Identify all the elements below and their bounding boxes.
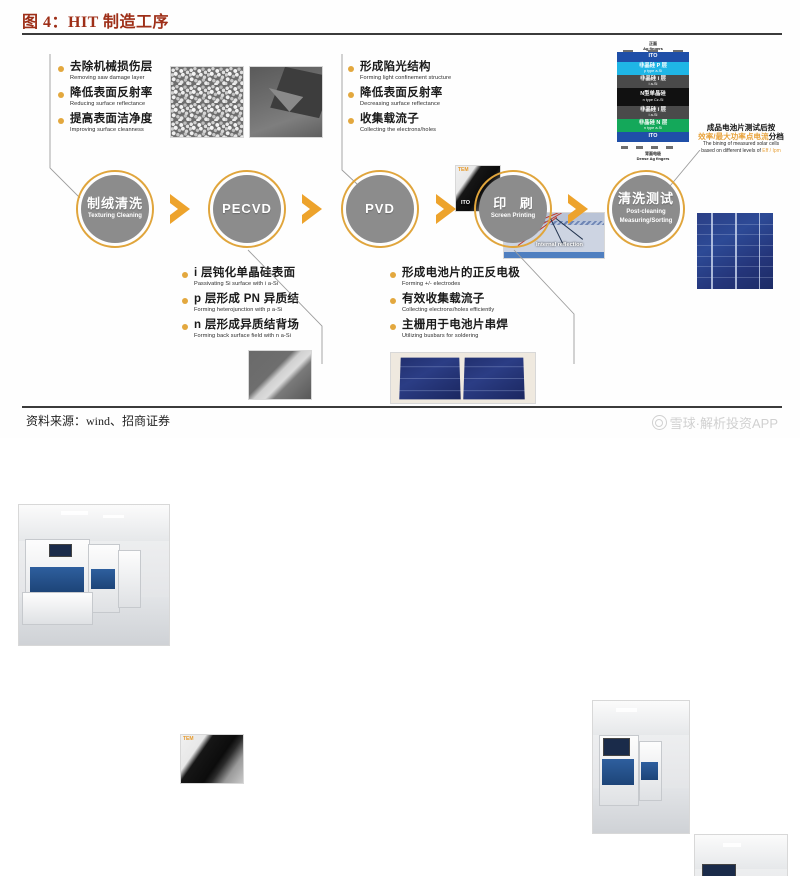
node-label-cn: 印 刷 bbox=[488, 197, 538, 211]
bullet-dot-icon bbox=[390, 298, 396, 304]
rear-ag-finger bbox=[636, 146, 643, 149]
tem-tag-label: TEM bbox=[183, 736, 194, 742]
process-node-texturing[interactable]: 制绒清洗 Texturing Cleaning bbox=[76, 170, 154, 248]
bullet-dot-icon bbox=[390, 324, 396, 330]
stack-layer-name: ITO bbox=[649, 134, 658, 139]
caption-line-2-tail: 分档 bbox=[769, 132, 784, 141]
sem-pyramid-texture-image bbox=[249, 66, 323, 138]
testing-equipment-photo-right bbox=[694, 834, 788, 876]
process-node-pvd[interactable]: PVD bbox=[341, 170, 419, 248]
leader-line-printing bbox=[470, 248, 580, 366]
node-label-en: Texturing Cleaning bbox=[88, 213, 142, 221]
process-node-pecvd[interactable]: PECVD bbox=[208, 170, 286, 248]
process-node-testing[interactable]: 清洗测试 Post-cleaning Measuring/Sorting bbox=[607, 170, 685, 248]
figure-root: 图 4：HIT 制造工序 去除机械损伤层 Removing saw damage… bbox=[0, 0, 800, 438]
stack-layer: ITO bbox=[617, 52, 689, 62]
caption-highlight-eff: Eff / Ipm bbox=[762, 148, 781, 154]
stack-layer: 非晶硅 P 层 p type a-Si bbox=[617, 62, 689, 75]
tem-zoom-image bbox=[248, 350, 312, 400]
photo-ceiling bbox=[19, 505, 169, 541]
watermark: 雪球·解析投资APP bbox=[652, 413, 778, 432]
figure-title-bar: 图 4：HIT 制造工序 bbox=[22, 8, 782, 38]
stack-layer: 非晶硅 N 层 n type a-Si bbox=[617, 119, 689, 132]
stack-layer-name: ITO bbox=[649, 54, 658, 59]
node-label-cn: PVD bbox=[365, 202, 395, 216]
caption-line-2: 效率/最大功率点电流分档 bbox=[686, 133, 796, 142]
xueqiu-logo-icon bbox=[652, 415, 667, 430]
source-note: 资料来源：wind、招商证券 bbox=[26, 412, 170, 429]
flow-arrow-icon bbox=[434, 192, 460, 226]
bullet-dot-icon bbox=[182, 324, 188, 330]
printed-cell bbox=[464, 358, 526, 400]
caption-line-3b-text: based on different levels of bbox=[701, 148, 762, 154]
bullet-dot-icon bbox=[182, 298, 188, 304]
rear-ag-finger bbox=[621, 146, 628, 149]
node-label-cn: PECVD bbox=[222, 202, 272, 216]
process-flow: 制绒清洗 Texturing Cleaning PECVD PVD bbox=[0, 170, 800, 255]
node-disc: PVD bbox=[346, 175, 414, 243]
node-label-cn: 清洗测试 bbox=[618, 192, 674, 206]
printed-cell-pair-photo bbox=[390, 352, 536, 404]
watermark-text: 雪球·解析投资APP bbox=[670, 413, 778, 432]
texturing-equipment-photo bbox=[18, 504, 170, 646]
caption-highlight: 效率/最大功率点电流 bbox=[698, 132, 768, 141]
stack-layer: ITO bbox=[617, 132, 689, 142]
page-title: 图 4：HIT 制造工序 bbox=[22, 8, 782, 32]
stack-layer: N型单晶硅 n type Cz-Si bbox=[617, 88, 689, 106]
rear-ag-finger bbox=[651, 146, 658, 149]
flow-arrow-icon bbox=[566, 192, 592, 226]
sem-rough-surface-image bbox=[170, 66, 244, 138]
stack-layer-sub: n type Cz-Si bbox=[643, 98, 664, 102]
footer-divider bbox=[22, 406, 782, 408]
node-disc: 制绒清洗 Texturing Cleaning bbox=[81, 175, 149, 243]
testing-equipment-photo-left bbox=[592, 700, 690, 834]
leader-line-pecvd bbox=[238, 248, 328, 366]
node-label-en-2: Measuring/Sorting bbox=[620, 218, 673, 226]
title-divider bbox=[22, 33, 782, 35]
flow-arrow-icon bbox=[300, 192, 326, 226]
stack-layer: 非晶硅 i 层 i a-Si bbox=[617, 75, 689, 88]
stack-layer-sub: p type a-Si bbox=[644, 69, 662, 73]
printed-cell bbox=[399, 358, 461, 400]
node-disc: 印 刷 Screen Printing bbox=[479, 175, 547, 243]
stack-layer: 非晶硅 i 层 i a-Si bbox=[617, 106, 689, 119]
node-label-en: Post-cleaning bbox=[626, 209, 665, 217]
node-disc: PECVD bbox=[213, 175, 281, 243]
stack-layer-sub: n type a-Si bbox=[644, 126, 662, 130]
node-disc: 清洗测试 Post-cleaning Measuring/Sorting bbox=[612, 175, 680, 243]
stack-layer-sub: i a-Si bbox=[649, 82, 658, 86]
stack-layer-sub: i a-Si bbox=[649, 113, 658, 117]
bullet-dot-icon bbox=[182, 272, 188, 278]
hit-cell-layer-stack: 正面 Ag fingers ITO 非晶硅 P 层 p type a-Si 非晶… bbox=[617, 52, 689, 146]
flow-arrow-icon bbox=[168, 192, 194, 226]
tem-passivation-image: TEM bbox=[180, 734, 244, 784]
node-label-cn: 制绒清洗 bbox=[87, 197, 143, 211]
rear-ag-finger bbox=[666, 146, 673, 149]
bullet-dot-icon bbox=[390, 272, 396, 278]
node-label-en: Screen Printing bbox=[491, 213, 535, 221]
process-node-printing[interactable]: 印 刷 Screen Printing bbox=[474, 170, 552, 248]
